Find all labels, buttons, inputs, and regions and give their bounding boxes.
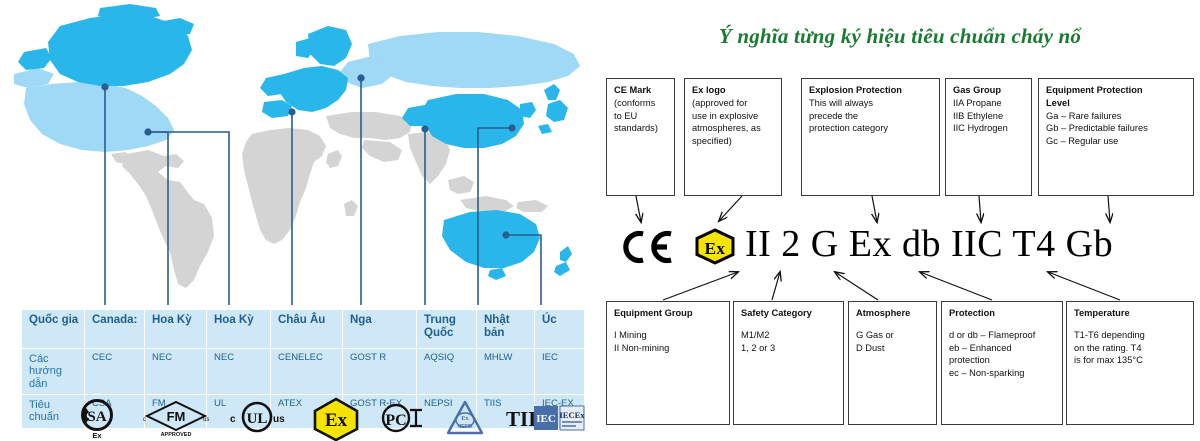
csa-ex-logo: SA Ex (76, 396, 118, 441)
explosion-protection-line-2: precede the (809, 110, 933, 123)
gas-group-heading: Gas Group (953, 84, 1025, 97)
protection-line-eb-cont: protection (949, 354, 1056, 367)
ce-mark-icon (622, 230, 676, 264)
svg-text:c: c (230, 414, 236, 425)
temperature-spacer (1074, 320, 1187, 329)
connector-usa-2 (148, 132, 168, 305)
connector-endpoint-dots (101, 74, 515, 238)
ce-mark-heading: CE Mark (614, 84, 668, 97)
temperature-line-3: is for max 135°C (1074, 354, 1187, 367)
explosion-protection-heading: Explosion Protection (809, 84, 933, 97)
epl-heading: Equipment Protection (1046, 84, 1187, 97)
atmosphere-spacer (856, 320, 930, 329)
svg-text:us: us (203, 417, 209, 423)
fm-approved-logo: FM APPROVED c us (141, 396, 211, 441)
table-header-japan: Nhật bản (477, 310, 535, 349)
explosion-protection-box: Explosion Protection This will always pr… (801, 78, 940, 196)
connector-australia (506, 235, 541, 305)
temperature-heading: Temperature (1074, 307, 1187, 320)
svg-text:APPROVED: APPROVED (161, 432, 192, 438)
ex-hexagon-icon: Ex (694, 228, 736, 265)
safety-category-line-123: 1, 2 or 3 (741, 342, 837, 355)
table-header-canada: Canada: (85, 310, 145, 349)
equipment-group-heading: Equipment Group (614, 307, 723, 320)
ex-logo-line-2: use in explosive (692, 110, 775, 123)
ce-mark-line-1: (conforms (614, 97, 668, 110)
table-header-country: Quốc gia (22, 310, 85, 349)
table-header-russia: Nga (343, 310, 417, 349)
protection-spacer (949, 320, 1056, 329)
atmosphere-line-dust: D Dust (856, 342, 930, 355)
arrow-to-atmosphere (835, 272, 878, 300)
equipment-group-line-ii: II Non-mining (614, 342, 723, 355)
cell-guidelines-russia: GOST R (343, 349, 417, 395)
svg-text:Ex: Ex (92, 431, 102, 440)
marking-row: Ex II 2 G Ex db IIC T4 Gb (600, 225, 1113, 266)
arrow-to-safety-category (772, 272, 780, 300)
atex-ex-logo: Ex (311, 396, 361, 441)
protection-line-d: d or db – Flameproof (949, 329, 1056, 342)
page-title: Ý nghĩa từng ký hiệu tiêu chuẩn cháy nổ (600, 24, 1200, 49)
map-and-standards-panel: Quốc gia Canada: Hoa Kỳ Hoa Kỳ Châu Âu N… (0, 0, 600, 441)
arrow-to-temperature (1048, 272, 1120, 300)
ex-logo-line-4: specified) (692, 135, 775, 148)
protection-box: Protection d or db – Flameproof eb – Enh… (941, 301, 1063, 425)
safety-category-spacer (741, 320, 837, 329)
table-header-usa-1: Hoa Kỳ (145, 310, 207, 349)
protection-line-ec: ec – Non-sparking (949, 367, 1056, 380)
svg-text:SA: SA (87, 409, 106, 425)
table-header-row: Quốc gia Canada: Hoa Kỳ Hoa Kỳ Châu Âu N… (22, 310, 585, 349)
ex-marking-string: Ex II 2 G Ex db IIC T4 Gb (600, 219, 1200, 271)
marking-code-text: II 2 G Ex db IIC T4 Gb (745, 223, 1113, 265)
arrow-to-equipment-group (663, 272, 738, 300)
infographic-root: Quốc gia Canada: Hoa Kỳ Hoa Kỳ Châu Âu N… (0, 0, 1200, 441)
row-label-guidelines: Các hướng dẫn (22, 349, 85, 395)
gas-group-line-3: IIC Hydrogen (953, 122, 1025, 135)
ce-mark-line-2: to EU (614, 110, 668, 123)
cell-guidelines-europe: CENELEC (271, 349, 343, 395)
epl-heading-line-2: Level (1046, 97, 1187, 110)
svg-text:c: c (143, 417, 146, 423)
connector-usa-1 (148, 132, 229, 305)
cell-guidelines-usa-2: NEC (207, 349, 271, 395)
table-row: Các hướng dẫn CEC NEC NEC CENELEC GOST R… (22, 349, 585, 395)
cell-guidelines-usa-1: NEC (145, 349, 207, 395)
ce-mark-box: CE Mark (conforms to EU standards) (606, 78, 675, 196)
cell-guidelines-japan: MHLW (477, 349, 535, 395)
connector-japan (478, 128, 512, 305)
epl-line-gb: Gb – Predictable failures (1046, 122, 1187, 135)
table-header-europe: Châu Âu (271, 310, 343, 349)
ex-logo-line-3: atmospheres, as (692, 122, 775, 135)
temperature-line-1: T1-T6 depending (1074, 329, 1187, 342)
cul-us-logo: UL c us (226, 396, 288, 441)
map-to-table-connectors (0, 0, 600, 312)
svg-text:Ex: Ex (705, 239, 726, 258)
ex-marking-explainer-panel: Ý nghĩa từng ký hiệu tiêu chuẩn cháy nổ (600, 0, 1200, 441)
safety-category-line-m: M1/M2 (741, 329, 837, 342)
ce-mark-line-3: standards) (614, 122, 668, 135)
svg-text:FM: FM (167, 409, 186, 424)
svg-text:Ex: Ex (461, 415, 469, 422)
ex-logo-line-1: (approved for (692, 97, 775, 110)
iec-iecex-logo: IEC IECEx (533, 396, 585, 441)
svg-text:Ex: Ex (325, 410, 348, 431)
equipment-group-spacer (614, 320, 723, 329)
epl-line-gc: Gc – Regular use (1046, 135, 1187, 148)
gas-group-line-1: IIA Propane (953, 97, 1025, 110)
safety-category-heading: Safety Category (741, 307, 837, 320)
equipment-group-box: Equipment Group I Mining II Non-mining (606, 301, 730, 425)
atmosphere-box: Atmosphere G Gas or D Dust (848, 301, 937, 425)
svg-text:NEPSI: NEPSI (457, 424, 473, 430)
certification-logo-strip: SA Ex FM APPROVED c us UL c us Ex (21, 396, 584, 441)
gas-group-box: Gas Group IIA Propane IIB Ethylene IIC H… (945, 78, 1032, 196)
cell-guidelines-canada: CEC (85, 349, 145, 395)
safety-category-box: Safety Category M1/M2 1, 2 or 3 (733, 301, 844, 425)
nepsi-logo: Ex NEPSI (443, 396, 487, 441)
temperature-line-2: on the rating. T4 (1074, 342, 1187, 355)
ex-logo-box: Ex logo (approved for use in explosive a… (684, 78, 782, 196)
svg-text:PC: PC (385, 412, 406, 429)
explosion-protection-line-3: protection category (809, 122, 933, 135)
arrow-to-ex-logo (719, 196, 742, 221)
svg-text:UL: UL (247, 411, 268, 427)
atmosphere-line-gas: G Gas or (856, 329, 930, 342)
protection-line-eb: eb – Enhanced (949, 342, 1056, 355)
svg-text:IEC: IEC (536, 413, 556, 425)
table-header-usa-2: Hoa Kỳ (207, 310, 271, 349)
table-header-australia: Úc (535, 310, 585, 349)
atmosphere-heading: Atmosphere (856, 307, 930, 320)
cell-guidelines-australia: IEC (535, 349, 585, 395)
table-header-china: Trung Quốc (417, 310, 477, 349)
svg-text:IECEx: IECEx (559, 410, 585, 420)
ex-logo-heading: Ex logo (692, 84, 775, 97)
arrow-to-protection (920, 272, 992, 300)
gost-r-pct-logo: PC (376, 396, 428, 441)
protection-heading: Protection (949, 307, 1056, 320)
svg-text:us: us (273, 414, 285, 425)
explosion-protection-line-1: This will always (809, 97, 933, 110)
gas-group-line-2: IIB Ethylene (953, 110, 1025, 123)
equipment-group-line-i: I Mining (614, 329, 723, 342)
equipment-protection-level-box: Equipment Protection Level Ga – Rare fai… (1038, 78, 1194, 196)
epl-line-ga: Ga – Rare failures (1046, 110, 1187, 123)
temperature-box: Temperature T1-T6 depending on the ratin… (1066, 301, 1194, 425)
cell-guidelines-china: AQSIQ (417, 349, 477, 395)
